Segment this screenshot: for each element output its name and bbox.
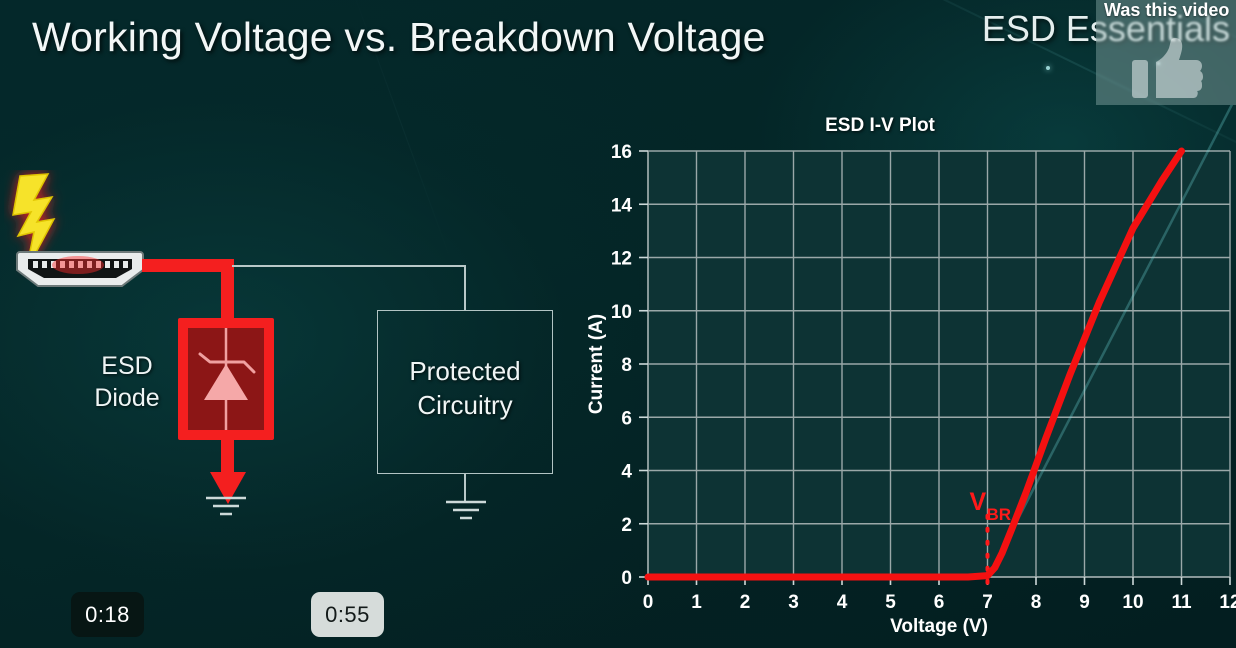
y-tick-label: 16 [611,142,632,163]
protected-label-line2: Circuitry [378,389,552,423]
x-tick-label: 12 [1219,592,1236,613]
signal-wire-vertical [464,265,466,311]
esd-diode-label-line2: Diode [82,382,172,414]
breakdown-voltage-label: V [970,488,987,516]
y-tick-label: 14 [611,195,633,216]
protected-label-line1: Protected [378,355,552,389]
total-time-badge[interactable]: 0:55 [311,592,384,637]
x-tick-label: 5 [885,592,896,613]
x-tick-label: 10 [1122,592,1143,613]
background-sparkle [1046,66,1050,70]
page-title: Working Voltage vs. Breakdown Voltage [32,14,766,61]
surge-wire-vertical [221,259,234,325]
x-tick-labels: 0123456789101112 [643,592,1236,613]
ground-icon [200,494,252,520]
y-tick-label: 10 [611,302,632,323]
hdmi-connector-icon [16,250,144,288]
current-time-badge[interactable]: 0:18 [71,592,144,637]
x-tick-label: 4 [837,592,848,613]
y-tick-label: 0 [621,568,632,589]
y-tick-label: 8 [621,355,632,376]
x-tick-label: 0 [643,592,654,613]
x-tick-label: 3 [788,592,799,613]
protected-circuitry-component: Protected Circuitry [377,310,553,474]
y-tick-label: 4 [621,462,632,483]
breakdown-voltage-sublabel: BR [987,505,1012,524]
slide-canvas: Working Voltage vs. Breakdown Voltage ES… [0,0,1236,648]
esd-iv-chart: ESD I-V Plot 0246810121416 0123456789101… [580,105,1236,648]
x-tick-label: 2 [740,592,751,613]
survey-question: Was this video [1104,0,1236,21]
thumbs-up-icon[interactable] [1132,36,1204,100]
x-tick-label: 7 [982,592,993,613]
esd-diode-component [178,318,274,440]
x-axis-title: Voltage (V) [890,616,988,637]
x-tick-label: 8 [1031,592,1042,613]
protected-circuitry-label: Protected Circuitry [378,355,552,423]
y-tick-label: 12 [611,249,632,270]
x-tick-label: 11 [1171,592,1192,613]
esd-diode-label: ESD Diode [82,350,172,414]
circuit-diagram: ESD Diode Protected Circuitry [0,170,580,550]
signal-wire-horizontal [232,265,466,267]
x-tick-label: 6 [934,592,945,613]
esd-diode-label-line1: ESD [82,350,172,382]
x-tick-label: 1 [691,592,702,613]
ground-icon [440,498,492,524]
y-tick-labels: 0246810121416 [611,142,633,589]
x-tick-label: 9 [1079,592,1090,613]
chart-plot: 0246810121416 0123456789101112 V BR Volt… [580,105,1236,648]
survey-overlay[interactable]: Was this video [1096,0,1236,105]
y-tick-label: 6 [621,408,632,429]
y-tick-label: 2 [621,515,632,536]
zener-diode-icon [188,328,264,430]
y-axis-title: Current (A) [586,314,607,414]
